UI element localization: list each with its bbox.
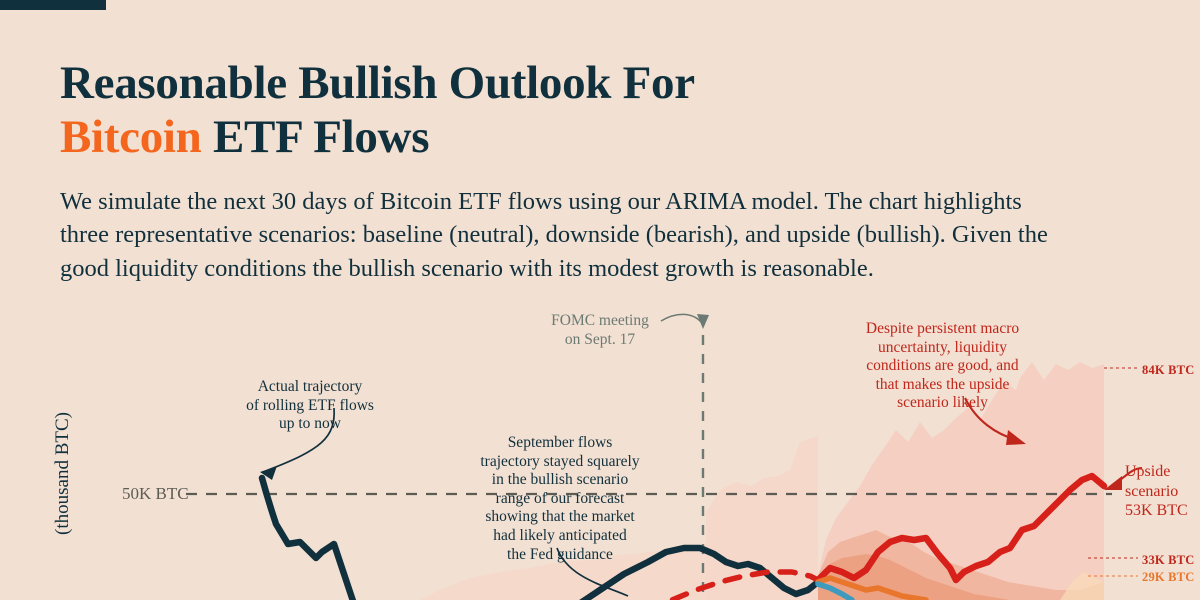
endpoint-label-29k: 29K BTC xyxy=(1142,570,1194,585)
endpoint-label-84k: 84K BTC xyxy=(1142,363,1194,378)
page-deck: We simulate the next 30 days of Bitcoin … xyxy=(60,185,1070,286)
title-line-1: Reasonable Bullish Outlook For xyxy=(60,57,695,109)
title-line-2-rest: ETF Flows xyxy=(202,111,430,163)
title-accent-word: Bitcoin xyxy=(60,111,202,163)
infographic-page: Reasonable Bullish Outlook For Bitcoin E… xyxy=(0,0,1200,600)
annotation-september-flows: September flows trajectory stayed square… xyxy=(460,434,660,564)
y-axis-label: (thousand BTC) xyxy=(52,412,74,535)
annotation-upside-scenario: Upside scenario 53K BTC xyxy=(1125,462,1200,521)
annotation-macro-uncertainty: Despite persistent macro uncertainty, li… xyxy=(830,320,1055,413)
annotation-actual-trajectory: Actual trajectory of rolling ETF flows u… xyxy=(215,378,405,434)
endpoint-label-33k: 33K BTC xyxy=(1142,553,1194,568)
page-title: Reasonable Bullish Outlook For Bitcoin E… xyxy=(60,57,1060,164)
reference-label-50k: 50K BTC xyxy=(122,484,189,504)
brand-bar xyxy=(0,0,106,10)
fomc-arrowhead xyxy=(697,314,709,329)
annotation-fomc: FOMC meeting on Sept. 17 xyxy=(520,312,680,349)
